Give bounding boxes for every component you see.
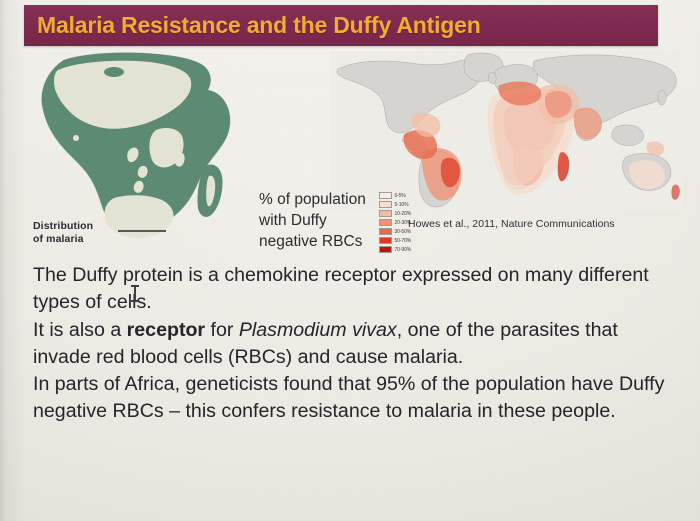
legend-title-line-3: negative RBCs — [259, 231, 366, 252]
legend-swatch-list: 0-5%5-10%10-20%20-30%30-50%50-70%70-90% — [379, 191, 411, 254]
legend-range-label: 0-5% — [395, 192, 406, 199]
figure-region: Distribution of malaria — [0, 48, 700, 248]
legend-color-chip — [379, 201, 392, 208]
p2-pre: It is also a — [33, 319, 127, 341]
legend-color-chip — [379, 237, 392, 244]
legend-row: 20-30% — [379, 218, 411, 227]
callout-leader-line — [118, 230, 166, 232]
highland-spot-1 — [73, 135, 79, 141]
legend-color-chip — [379, 246, 392, 253]
malaria-distribution-callout: Distribution of malaria — [33, 220, 153, 246]
legend-range-label: 50-70% — [395, 237, 412, 244]
legend-row: 5-10% — [379, 200, 411, 209]
p2-bold-receptor: receptor — [127, 319, 205, 341]
legend-color-chip — [379, 228, 392, 235]
legend-row: 50-70% — [379, 236, 411, 245]
legend-range-label: 70-90% — [395, 246, 412, 253]
legend-range-label: 5-10% — [395, 201, 409, 208]
legend-row: 10-20% — [379, 209, 411, 218]
body-paragraph-2: It is also a receptor for Plasmodium viv… — [33, 317, 681, 372]
legend-row: 70-90% — [379, 245, 411, 254]
legend-range-label: 10-20% — [395, 210, 412, 217]
callout-line-2: of malaria — [33, 233, 153, 246]
text-ibeam-cursor — [134, 285, 136, 302]
body-paragraph-3: In parts of Africa, geneticists found th… — [33, 371, 681, 426]
legend-color-chip — [379, 192, 392, 199]
slide-title-bar: Malaria Resistance and the Duffy Antigen — [24, 5, 658, 46]
figure-citation: Howes et al., 2011, Nature Communication… — [408, 218, 615, 230]
legend-title: % of population with Duffy negative RBCs — [259, 189, 366, 252]
north-pale-spot — [104, 67, 124, 77]
world-duffy-negative-prevalence-map — [330, 51, 682, 211]
p2-italic-species: Plasmodium vivax — [239, 319, 397, 341]
body-paragraph-1: The Duffy protein is a chemokine recepto… — [33, 262, 681, 317]
legend-row: 30-50% — [379, 227, 411, 236]
p2-mid: for — [205, 319, 239, 341]
legend-title-line-1: % of population — [259, 189, 366, 210]
legend-color-chip — [379, 210, 392, 217]
legend-title-line-2: with Duffy — [259, 210, 366, 231]
legend-color-chip — [379, 219, 392, 226]
page-title: Malaria Resistance and the Duffy Antigen — [24, 12, 481, 39]
legend-row: 0-5% — [379, 191, 411, 200]
